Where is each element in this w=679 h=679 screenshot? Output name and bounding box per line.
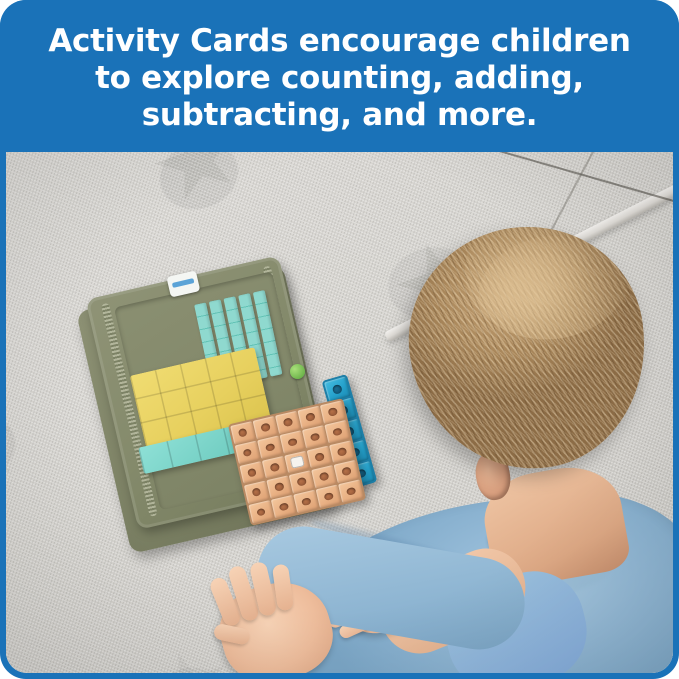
banner-line-3: subtracting, and more.	[142, 97, 537, 134]
product-feature-card: Activity Cards encourage children to exp…	[0, 0, 679, 679]
banner: Activity Cards encourage children to exp…	[0, 0, 679, 152]
product-photo: 25	[6, 152, 673, 673]
child-figure	[6, 152, 673, 673]
banner-line-1: Activity Cards encourage children	[48, 23, 630, 60]
banner-line-2: to explore counting, adding,	[95, 60, 584, 97]
